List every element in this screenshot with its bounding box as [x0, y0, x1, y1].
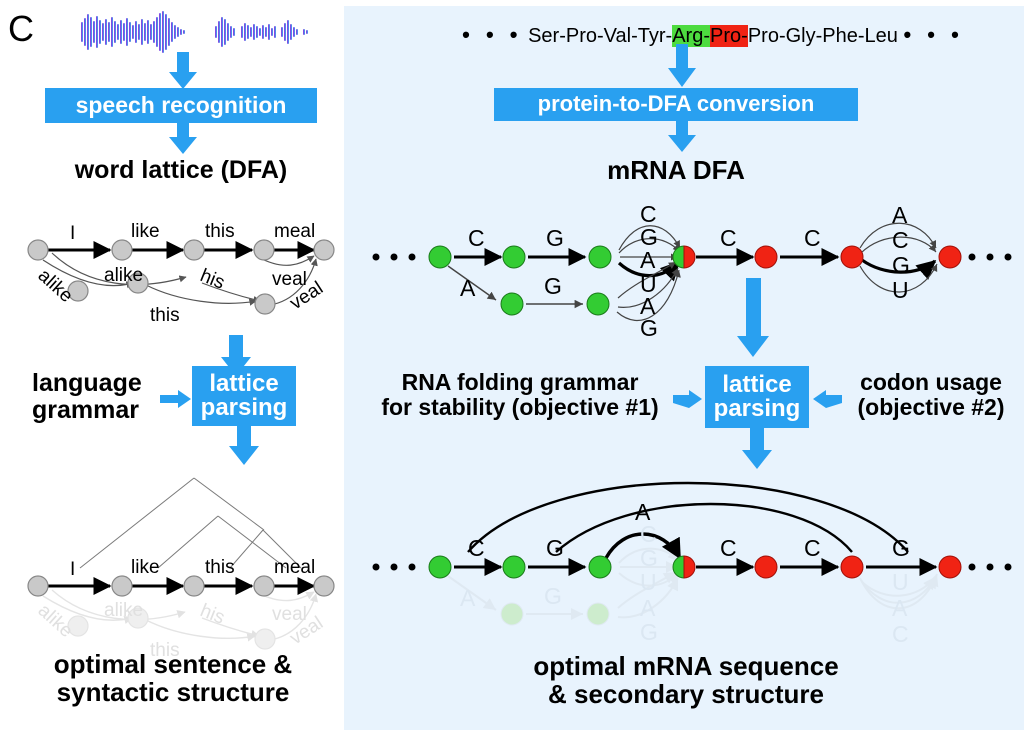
- opt-edge-G1: G: [546, 535, 564, 561]
- opt-faded-G1: G: [544, 583, 562, 609]
- tree-faded-alike: alike: [34, 600, 77, 642]
- opt-faded-G: G: [640, 545, 658, 571]
- tree-faded-his: his: [197, 600, 227, 629]
- mrna-dfa-caption: mRNA DFA: [500, 156, 852, 184]
- optimal-parse-tree-graph: I like this meal alike his this veal vea…: [18, 468, 336, 658]
- opt-faded-C2: C: [892, 621, 909, 647]
- dfa-final-U: U: [892, 277, 909, 303]
- dfa-final-C: C: [892, 227, 909, 253]
- sequence-residues: Ser-Pro-Val-Tyr-Arg-Pro-Pro-Gly-Phe-Leu: [528, 25, 898, 47]
- dfa-edge-C1: C: [468, 225, 485, 251]
- right-caption-line2: & secondary structure: [356, 680, 1016, 708]
- left-caption-line2: syntactic structure: [8, 678, 338, 706]
- opt-faded-A3: A: [892, 595, 908, 621]
- lattice-parsing-left-line2: parsing: [201, 396, 288, 420]
- residue-separator: -: [741, 25, 748, 47]
- residue-val-2: Val: [604, 25, 631, 47]
- objective1-line2: for stability (objective #1): [370, 395, 670, 420]
- residue-phe-8: Phe: [822, 25, 858, 47]
- protein-to-dfa-conversion-box[interactable]: protein-to-DFA conversion: [494, 88, 858, 121]
- right-caption-line1: optimal mRNA sequence: [356, 652, 1016, 680]
- dfa-edge-G2: G: [544, 273, 562, 299]
- arrow-speech-recognition-to-lattice: [167, 123, 199, 155]
- edge-label-like: like: [131, 221, 160, 242]
- opt-faded-U: U: [640, 569, 657, 595]
- edge-label-alike: alike: [34, 265, 77, 307]
- tree-faded-alike-2: alike: [104, 600, 143, 621]
- opt-edge-C3: C: [804, 535, 821, 561]
- speech-recognition-box[interactable]: speech recognition: [45, 88, 317, 123]
- dfa-fan-G2: G: [640, 315, 658, 341]
- tree-edge-label-like: like: [131, 557, 160, 578]
- opt-edge-C2: C: [720, 535, 737, 561]
- lattice-parsing-box-left[interactable]: lattice parsing: [192, 366, 296, 426]
- edge-label-I: I: [70, 223, 75, 244]
- residue-tyr-3: Tyr: [638, 25, 666, 47]
- arrow-waveform-to-speech-recognition: [167, 52, 199, 90]
- opt-faded-U2: U: [892, 569, 909, 595]
- figure-root: C: [0, 0, 1024, 738]
- opt-faded-C: C: [640, 521, 657, 547]
- opt-edge-C1: C: [468, 535, 485, 561]
- tree-edge-label-this: this: [205, 557, 235, 578]
- left-caption-line1: optimal sentence &: [8, 650, 338, 678]
- speech-waveform-icon: [55, 8, 320, 56]
- residue-leu-9: Leu: [865, 25, 898, 47]
- word-lattice-graph: I like this meal alike his this veal vea…: [18, 205, 336, 340]
- dfa-edge-A1: A: [460, 275, 476, 301]
- objective1-label: RNA folding grammar for stability (objec…: [370, 370, 670, 420]
- arrow-sequence-to-conversion: [666, 44, 698, 88]
- dfa-edge-G1: G: [546, 225, 564, 251]
- word-lattice-caption: word lattice (DFA): [20, 157, 342, 184]
- dfa-edge-C2: C: [720, 225, 737, 251]
- split-node-green-red: [673, 246, 695, 268]
- split-node-green-red-bottom: [673, 556, 695, 578]
- residue-separator: -: [858, 25, 865, 47]
- residue-pro-5: Pro: [710, 25, 741, 47]
- opt-edge-G2: G: [892, 535, 910, 561]
- arrow-objective1-to-parsing: [673, 390, 703, 410]
- opt-faded-G2: G: [640, 619, 658, 645]
- dfa-edge-C3: C: [804, 225, 821, 251]
- opt-faded-A2: A: [640, 595, 656, 621]
- residue-pro-6: Pro: [748, 25, 779, 47]
- tree-edge-label-meal: meal: [274, 557, 315, 578]
- residue-separator: -: [597, 25, 604, 47]
- objective2-line2: (objective #2): [838, 395, 1024, 420]
- right-bottom-caption: optimal mRNA sequence & secondary struct…: [356, 652, 1016, 708]
- residue-separator: -: [779, 25, 786, 47]
- edge-label-his: his: [197, 265, 227, 294]
- residue-separator: -: [631, 25, 638, 47]
- arrow-grammar-to-parsing: [160, 390, 192, 410]
- opt-faded-A1: A: [460, 585, 476, 611]
- lattice-parsing-box-right[interactable]: lattice parsing: [705, 366, 809, 428]
- arrow-parsing-to-result-right: [740, 428, 774, 470]
- edge-label-alike-2: alike: [104, 265, 143, 286]
- optimal-mrna-structure-graph: C G A C C G A G C G U A G U A C: [368, 470, 1016, 655]
- dfa-final-A: A: [892, 202, 908, 228]
- residue-separator: -: [703, 25, 710, 47]
- sequence-prefix-dots: • • •: [462, 22, 522, 47]
- objective2-line1: codon usage: [838, 370, 1024, 395]
- protein-sequence-row: • • • Ser-Pro-Val-Tyr-Arg-Pro-Pro-Gly-Ph…: [418, 22, 1008, 48]
- arrow-conversion-to-mrna-dfa: [666, 121, 698, 153]
- residue-gly-7: Gly: [786, 25, 816, 47]
- left-bottom-caption: optimal sentence & syntactic structure: [8, 650, 338, 706]
- arrow-mrna-dfa-to-parsing: [735, 278, 771, 358]
- residue-separator: -: [559, 25, 566, 47]
- residue-pro-1: Pro: [566, 25, 597, 47]
- edge-label-meal: meal: [274, 221, 315, 242]
- edge-label-this-2: this: [150, 305, 180, 326]
- tree-edge-label-I: I: [70, 559, 75, 580]
- dfa-final-G: G: [892, 252, 910, 278]
- sequence-suffix-dots: • • •: [903, 22, 963, 47]
- panel-letter: C: [8, 8, 34, 50]
- residue-ser-0: Ser: [528, 25, 559, 47]
- edge-label-this: this: [205, 221, 235, 242]
- objective1-line1: RNA folding grammar: [370, 370, 670, 395]
- lattice-parsing-right-line2: parsing: [714, 397, 801, 421]
- dfa-fan-A: A: [640, 247, 656, 273]
- lattice-parsing-right-line1: lattice: [722, 373, 791, 397]
- arrow-parsing-to-result-left: [227, 426, 261, 466]
- objective2-label: codon usage (objective #2): [838, 370, 1024, 420]
- lattice-parsing-left-line1: lattice: [209, 372, 278, 396]
- mrna-dfa-graph: C G A G C G A U A G C C A C G U: [368, 200, 1016, 340]
